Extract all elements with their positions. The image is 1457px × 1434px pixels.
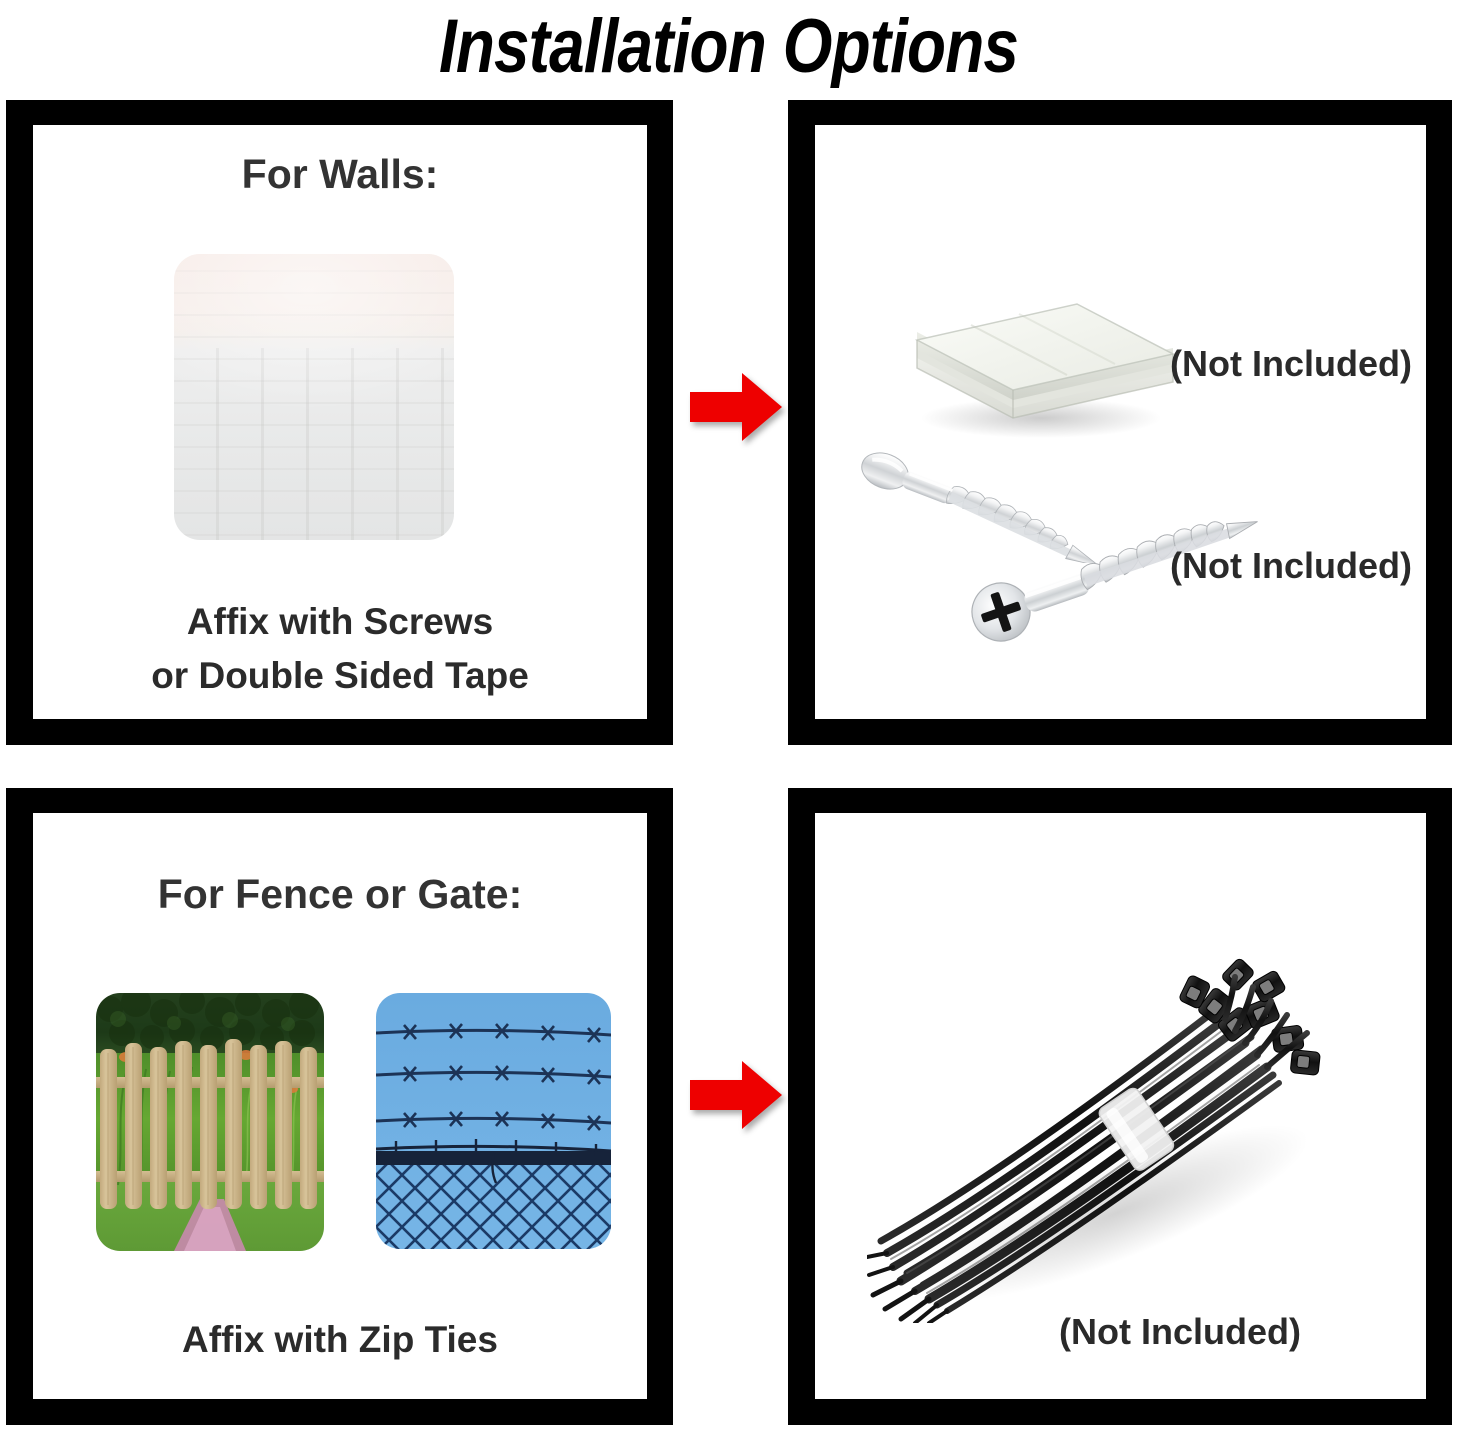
arrow-right-icon [690,1059,782,1131]
panel-for-walls-content: For Walls: Affix with Screws or Double S… [33,125,647,719]
for-fence-caption-line1: Affix with Zip Ties [33,1313,647,1367]
white-brick-wall-image [174,254,454,540]
arrow-right-icon [690,371,782,443]
black-zip-ties-bundle-image [867,923,1367,1323]
barbed-wire-chain-link-fence-image [376,993,611,1249]
panel-for-fence-or-gate: For Fence or Gate: [6,788,673,1425]
screws-not-included-label: (Not Included) [1170,545,1412,587]
for-walls-caption: Affix with Screws or Double Sided Tape [33,595,647,703]
for-walls-caption-line2: or Double Sided Tape [33,649,647,703]
page-title: Installation Options [117,0,1341,92]
for-fence-or-gate-heading: For Fence or Gate: [33,871,647,918]
for-fence-caption: Affix with Zip Ties [33,1313,647,1367]
wooden-picket-fence-image [96,993,324,1251]
double-sided-tape-stack-image [901,250,1201,446]
panel-for-walls: For Walls: Affix with Screws or Double S… [6,100,673,745]
panel-for-fence-or-gate-content: For Fence or Gate: [33,813,647,1399]
tape-not-included-label: (Not Included) [1170,343,1412,385]
wall-highlight [174,254,454,540]
for-walls-caption-line1: Affix with Screws [33,595,647,649]
for-walls-heading: For Walls: [33,151,647,198]
zip-ties-not-included-label: (Not Included) [1059,1311,1301,1353]
panel-fence-hardware-content: (Not Included) [815,813,1426,1399]
panel-fence-hardware: (Not Included) [788,788,1452,1425]
panel-wall-hardware-content: (Not Included) [815,125,1426,719]
panel-wall-hardware: (Not Included) [788,100,1452,745]
